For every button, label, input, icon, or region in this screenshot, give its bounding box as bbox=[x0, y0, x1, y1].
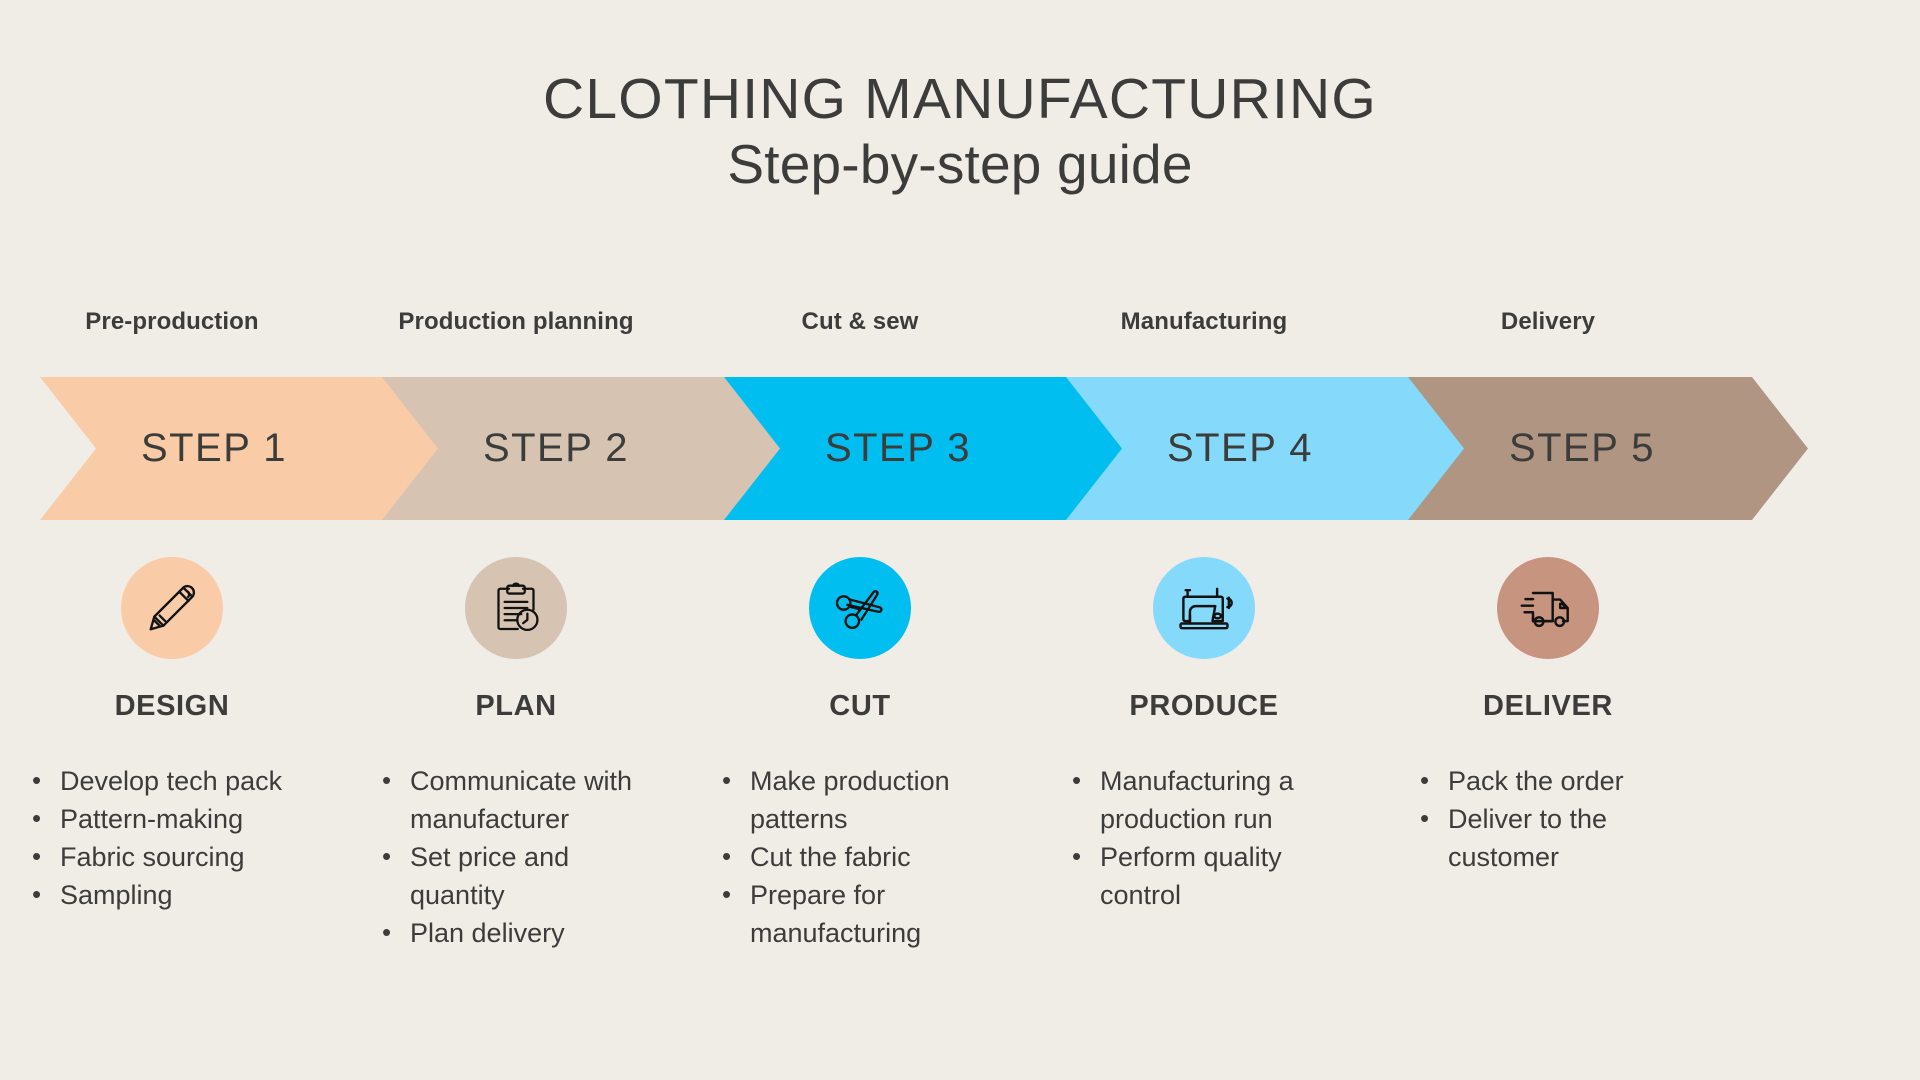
bullet-lists-row: Develop tech packPattern-makingFabric so… bbox=[0, 762, 1920, 952]
chevron-band: STEP 1 STEP 2 STEP 3 STEP 4 STEP 5 bbox=[0, 377, 1920, 520]
scissors-icon bbox=[809, 557, 911, 659]
list-item: Set price and quantity bbox=[374, 838, 670, 914]
action-label-plan: PLAN bbox=[344, 690, 688, 730]
category-label-step-2: Production planning bbox=[344, 308, 688, 352]
action-label-cut: CUT bbox=[688, 690, 1032, 730]
list-item: Communicate with manufacturer bbox=[374, 762, 670, 838]
title-block: CLOTHING MANUFACTURING Step-by-step guid… bbox=[0, 68, 1920, 197]
chevron-step-1[interactable]: STEP 1 bbox=[40, 377, 440, 520]
category-label-step-5: Delivery bbox=[1376, 308, 1720, 352]
list-item: Develop tech pack bbox=[24, 762, 324, 800]
list-item: Prepare for manufacturing bbox=[714, 876, 1014, 952]
list-item: Sampling bbox=[24, 876, 324, 914]
icon-cell-step-5 bbox=[1376, 557, 1720, 661]
list-item: Plan delivery bbox=[374, 914, 670, 952]
chevron-label-step-2: STEP 2 bbox=[483, 426, 629, 471]
page-title-primary: CLOTHING MANUFACTURING bbox=[0, 68, 1920, 132]
category-label-row: Pre-production Production planning Cut &… bbox=[0, 308, 1920, 352]
bullet-list-step-4: Manufacturing a production runPerform qu… bbox=[1032, 762, 1376, 952]
action-label-design: DESIGN bbox=[0, 690, 344, 730]
infographic-canvas: CLOTHING MANUFACTURING Step-by-step guid… bbox=[0, 0, 1920, 1080]
chevron-label-step-5: STEP 5 bbox=[1509, 426, 1655, 471]
list-item: Pattern-making bbox=[24, 800, 324, 838]
chevron-step-2[interactable]: STEP 2 bbox=[382, 377, 782, 520]
chevron-step-5[interactable]: STEP 5 bbox=[1408, 377, 1808, 520]
icon-cell-step-4 bbox=[1032, 557, 1376, 661]
list-item: Make production patterns bbox=[714, 762, 1014, 838]
page-title-secondary: Step-by-step guide bbox=[0, 132, 1920, 197]
icon-cell-step-3 bbox=[688, 557, 1032, 661]
action-label-produce: PRODUCE bbox=[1032, 690, 1376, 730]
category-label-step-1: Pre-production bbox=[0, 308, 344, 352]
pencil-icon bbox=[121, 557, 223, 659]
category-label-step-3: Cut & sew bbox=[688, 308, 1032, 352]
list-item: Perform quality control bbox=[1064, 838, 1360, 914]
action-label-row: DESIGN PLAN CUT PRODUCE DELIVER bbox=[0, 690, 1920, 730]
chevron-label-step-3: STEP 3 bbox=[825, 426, 971, 471]
category-label-step-4: Manufacturing bbox=[1032, 308, 1376, 352]
list-item: Manufacturing a production run bbox=[1064, 762, 1360, 838]
icon-cell-step-2 bbox=[344, 557, 688, 661]
list-item: Fabric sourcing bbox=[24, 838, 324, 876]
list-item: Deliver to the customer bbox=[1412, 800, 1702, 876]
bullet-list-step-2: Communicate with manufacturerSet price a… bbox=[344, 762, 688, 952]
list-item: Pack the order bbox=[1412, 762, 1702, 800]
icon-row bbox=[0, 557, 1920, 661]
chevron-step-3[interactable]: STEP 3 bbox=[724, 377, 1124, 520]
chevron-step-4[interactable]: STEP 4 bbox=[1066, 377, 1466, 520]
bullet-list-step-5: Pack the orderDeliver to the customer bbox=[1376, 762, 1720, 952]
clipboard-clock-icon bbox=[465, 557, 567, 659]
bullet-list-step-3: Make production patternsCut the fabricPr… bbox=[688, 762, 1032, 952]
sewing-machine-icon bbox=[1153, 557, 1255, 659]
icon-cell-step-1 bbox=[0, 557, 344, 661]
bullet-list-step-1: Develop tech packPattern-makingFabric so… bbox=[0, 762, 344, 952]
chevron-label-step-1: STEP 1 bbox=[141, 426, 287, 471]
delivery-truck-icon bbox=[1497, 557, 1599, 659]
list-item: Cut the fabric bbox=[714, 838, 1014, 876]
action-label-deliver: DELIVER bbox=[1376, 690, 1720, 730]
chevron-label-step-4: STEP 4 bbox=[1167, 426, 1313, 471]
